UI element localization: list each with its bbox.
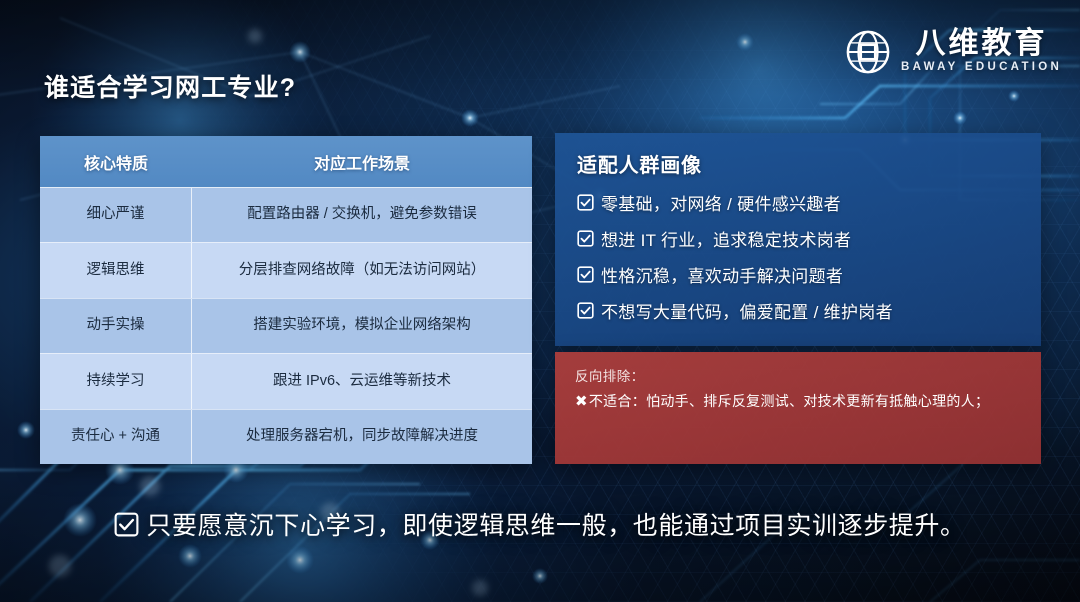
list-item: 想进 IT 行业，追求稳定技术岗者 [577, 226, 1019, 251]
list-item: 不想写大量代码，偏爱配置 / 维护岗者 [577, 298, 1019, 323]
table-row: 持续学习 跟进 IPv6、云运维等新技术 [40, 353, 532, 408]
table-header-trait: 核心特质 [40, 150, 192, 174]
bottom-banner-text: 只要愿意沉下心学习，即使逻辑思维一般，也能通过项目实训逐步提升。 [146, 506, 965, 542]
exclusion-lead: 反向排除： [575, 365, 1021, 385]
table-header-row: 核心特质 对应工作场景 [40, 136, 532, 188]
exclusion-panel: 反向排除： ✖不适合：怕动手、排斥反复测试、对技术更新有抵触心理的人； [555, 352, 1041, 464]
table-row: 责任心 + 沟通 处理服务器宕机，同步故障解决进度 [40, 409, 532, 464]
checkbox-checked-icon [577, 230, 594, 247]
slide-root: 八维教育 BAWAY EDUCATION 谁适合学习网工专业? 核心特质 对应工… [0, 0, 1080, 602]
table-cell-scene: 跟进 IPv6、云运维等新技术 [192, 354, 532, 408]
logo-name-en: BAWAY EDUCATION [901, 60, 1062, 75]
list-item: 性格沉稳，喜欢动手解决问题者 [577, 262, 1019, 287]
checkbox-checked-icon [577, 194, 594, 211]
exclusion-text: 不适合：怕动手、排斥反复测试、对技术更新有抵触心理的人； [589, 393, 989, 409]
table-row: 细心严谨 配置路由器 / 交换机，避免参数错误 [40, 188, 532, 242]
checkbox-checked-icon [114, 512, 139, 537]
bottom-banner: 只要愿意沉下心学习，即使逻辑思维一般，也能通过项目实训逐步提升。 [0, 495, 1080, 553]
table-cell-scene: 配置路由器 / 交换机，避免参数错误 [192, 188, 532, 242]
table-cell-trait: 持续学习 [40, 354, 192, 408]
table-cell-trait: 细心严谨 [40, 188, 192, 242]
fit-profile-title: 适配人群画像 [577, 149, 1019, 178]
list-item-label: 性格沉稳，喜欢动手解决问题者 [601, 262, 843, 287]
fit-profile-list: 零基础，对网络 / 硬件感兴趣者 想进 IT 行业，追求稳定技术岗者 性格沉稳，… [577, 190, 1019, 323]
list-item-label: 零基础，对网络 / 硬件感兴趣者 [601, 190, 841, 215]
table-row: 逻辑思维 分层排查网络故障（如无法访问网站） [40, 242, 532, 297]
list-item-label: 想进 IT 行业，追求稳定技术岗者 [601, 226, 851, 251]
table-header-scene: 对应工作场景 [192, 150, 532, 174]
table-cell-scene: 分层排查网络故障（如无法访问网站） [192, 243, 532, 297]
table-row: 动手实操 搭建实验环境，模拟企业网络架构 [40, 298, 532, 353]
table-cell-scene: 搭建实验环境，模拟企业网络架构 [192, 299, 532, 353]
globe-grid-icon [845, 29, 891, 75]
table-cell-trait: 责任心 + 沟通 [40, 410, 192, 464]
x-mark-icon: ✖ [575, 393, 588, 410]
checkbox-checked-icon [577, 266, 594, 283]
table-cell-trait: 逻辑思维 [40, 243, 192, 297]
list-item-label: 不想写大量代码，偏爱配置 / 维护岗者 [601, 298, 893, 323]
fit-profile-panel: 适配人群画像 零基础，对网络 / 硬件感兴趣者 想进 IT 行业，追求稳定技术岗… [555, 133, 1041, 346]
table-cell-trait: 动手实操 [40, 299, 192, 353]
exclusion-body: ✖不适合：怕动手、排斥反复测试、对技术更新有抵触心理的人； [575, 390, 1021, 414]
traits-table: 核心特质 对应工作场景 细心严谨 配置路由器 / 交换机，避免参数错误 逻辑思维… [40, 136, 532, 464]
checkbox-checked-icon [577, 302, 594, 319]
logo-wordmark: 八维教育 BAWAY EDUCATION [901, 28, 1062, 75]
table-cell-scene: 处理服务器宕机，同步故障解决进度 [192, 410, 532, 464]
page-title: 谁适合学习网工专业? [44, 68, 296, 104]
brand-logo: 八维教育 BAWAY EDUCATION [845, 28, 1062, 75]
logo-name-cn: 八维教育 [916, 28, 1048, 59]
list-item: 零基础，对网络 / 硬件感兴趣者 [577, 190, 1019, 215]
